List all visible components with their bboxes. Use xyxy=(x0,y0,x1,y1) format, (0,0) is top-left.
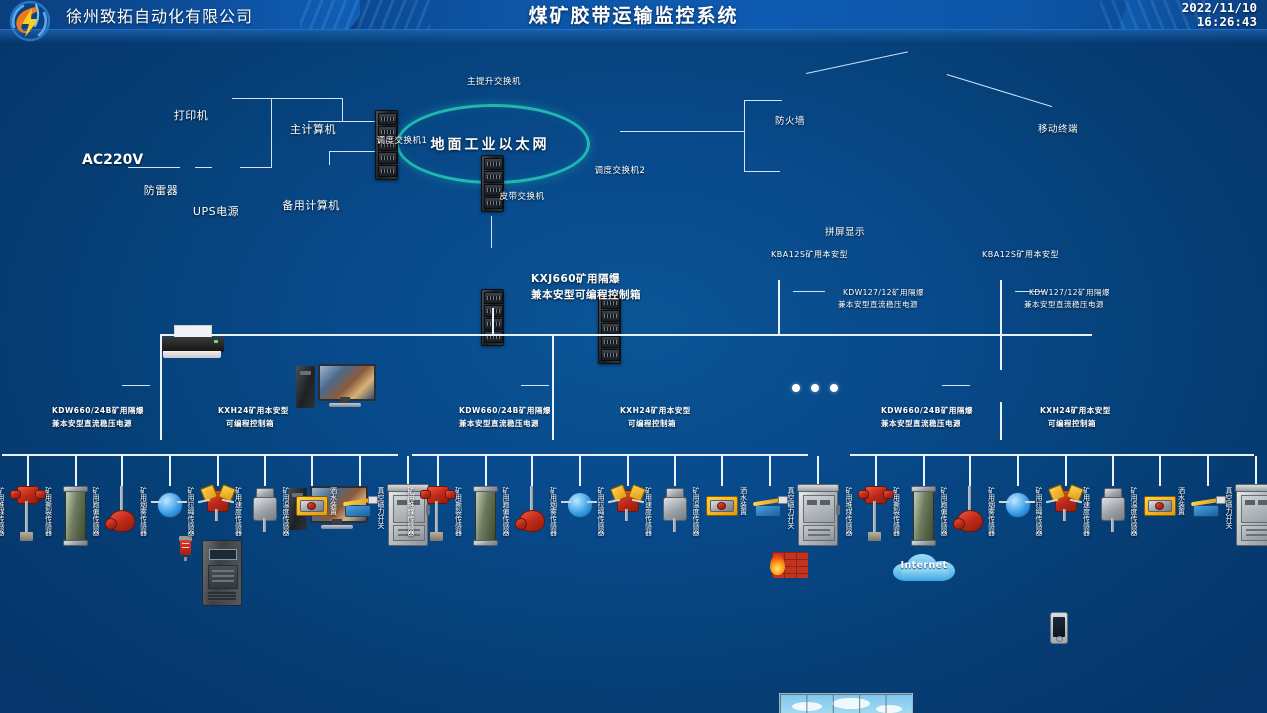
header-glow xyxy=(0,29,1267,43)
sensor-label: 真空磁力开关 xyxy=(377,487,385,529)
link-camera-1-to-power xyxy=(793,291,825,292)
sensor-temperature[interactable] xyxy=(293,486,329,516)
main-computer-device[interactable] xyxy=(296,364,372,410)
sensor-drop-line xyxy=(264,456,266,486)
sprinkler-nozzle xyxy=(778,496,788,504)
kdw660-power-2-line1: KDW660/24B矿用隔爆 xyxy=(459,405,551,416)
switch-dispatch-1-label: 调度交换机1 xyxy=(377,134,428,146)
coal-pile-lug-l xyxy=(10,490,21,499)
tear-plate xyxy=(475,488,496,544)
sensor-label: 矿用烟雾传感器 xyxy=(550,487,558,536)
sensor-label: 矿用堆煤传感器 xyxy=(845,487,853,536)
printer-label: 打印机 xyxy=(174,107,209,123)
deviation-shaft xyxy=(530,486,533,512)
link-power-3-to-controller-3 xyxy=(942,385,970,386)
mobile-terminal-icon[interactable] xyxy=(1050,612,1068,644)
vacuum-switch-cabinet xyxy=(1236,486,1267,546)
sensor-label: 矿用堆煤传感器 xyxy=(0,487,5,536)
vacuum-switch-lower xyxy=(1241,525,1267,541)
sensor-smoke[interactable] xyxy=(999,486,1035,518)
deviation-arm xyxy=(105,518,117,530)
tear-bottom-cap xyxy=(63,540,88,546)
sprinkler-nozzle xyxy=(1216,496,1226,504)
surge-pin xyxy=(184,557,187,561)
coal-pile-lug-l xyxy=(420,490,431,499)
tear-bottom-cap xyxy=(911,540,936,546)
sensor-coal-pile[interactable] xyxy=(8,486,46,542)
backup-computer-label: 备用计算机 xyxy=(282,197,340,213)
sensor-drop-line xyxy=(311,456,313,486)
sprinkler-unit xyxy=(751,493,787,515)
sensor-label: 矿用拉绳传感器 xyxy=(1035,487,1043,536)
sensor-vacuum-switch[interactable] xyxy=(798,486,836,544)
sensor-drop-line xyxy=(437,456,439,486)
sensor-drop-line xyxy=(121,456,123,486)
ups-device[interactable] xyxy=(202,540,242,606)
sensor-label: 矿用速度传感器 xyxy=(645,487,653,536)
sensor-speed[interactable] xyxy=(1094,486,1130,533)
vacuum-switch-top xyxy=(1235,484,1267,492)
coal-pile-paddle xyxy=(20,532,33,541)
sensor-drop-line xyxy=(1065,456,1067,486)
wall-bezel-grid xyxy=(780,694,912,713)
sensor-label: 矿用堆煤传感器 xyxy=(407,487,415,536)
kdw127-power-2-line2: 兼本安型直流稳压电源 xyxy=(1024,299,1104,310)
deviation-arm xyxy=(953,518,965,530)
sensor-label: 矿用烟雾传感器 xyxy=(140,487,148,536)
sensor-speed[interactable] xyxy=(656,486,692,533)
sensor-smoke[interactable] xyxy=(151,486,187,518)
sensor-label: 真空磁力开关 xyxy=(1225,487,1233,529)
sensor-label: 矿用跑偏传感器 xyxy=(92,487,100,536)
link-right-riser xyxy=(744,100,745,172)
link-to-firewall xyxy=(744,100,782,101)
smoke-bracket-l xyxy=(999,501,1009,503)
coal-pile-rod xyxy=(873,501,876,533)
app-header: 徐州致拓自动化有限公司 煤矿胶带运输监控系统 2022/11/10 16:26:… xyxy=(0,0,1267,30)
sensor-drop-line xyxy=(674,456,676,486)
sensor-drop-line xyxy=(817,456,819,486)
link-surge-to-ups xyxy=(195,167,212,168)
sensor-drop-line xyxy=(27,456,29,486)
sensor-sprinkler[interactable] xyxy=(341,486,377,516)
smoke-dome xyxy=(1005,492,1031,518)
sensor-drop-line xyxy=(1159,456,1161,486)
main-computer-tower xyxy=(296,366,315,408)
speed-shaft xyxy=(1111,518,1114,532)
link-internet-mobile xyxy=(947,74,1052,107)
smoke-bracket-r xyxy=(1025,501,1035,503)
pullcord-stem xyxy=(625,509,628,521)
video-wall-label: 拼屏显示 xyxy=(825,224,865,238)
sensor-sprinkler[interactable] xyxy=(751,486,787,516)
sensor-tear[interactable] xyxy=(466,486,504,544)
link-ups-up xyxy=(271,98,272,168)
sensor-drop-line xyxy=(169,456,171,486)
smoke-dome xyxy=(157,492,183,518)
tear-top-cap xyxy=(63,486,88,492)
printer-led xyxy=(214,340,218,343)
sensor-speed[interactable] xyxy=(246,486,282,533)
ring-label: 地面工业以太网 xyxy=(431,134,550,154)
kxh24-controller-2-line2: 可编程控制箱 xyxy=(628,418,676,429)
system-title: 煤矿胶带运输监控系统 xyxy=(0,1,1267,28)
tear-top-cap xyxy=(911,486,936,492)
printer-base xyxy=(163,351,221,358)
kba12s-camera-1-label: KBA12S矿用本安型 xyxy=(771,249,848,260)
sensor-drop-line xyxy=(1207,456,1209,486)
sensor-label: 矿用撕裂传感器 xyxy=(893,487,901,536)
sensor-sprinkler[interactable] xyxy=(1189,486,1225,516)
kxh24-controller-3-line1: KXH24矿用本安型 xyxy=(1040,405,1111,416)
sensor-label: 洒水装置 xyxy=(740,487,748,515)
kxh24-controller-1-line2: 可编程控制箱 xyxy=(226,418,274,429)
sensor-coal-pile[interactable] xyxy=(418,486,456,542)
surge-protector-label: 防雷器 xyxy=(144,182,179,198)
sprinkler-base xyxy=(1193,505,1219,517)
vacuum-switch-cabinet xyxy=(798,486,838,546)
link-power-2-to-controller-2 xyxy=(521,385,549,386)
sensor-drop-line xyxy=(485,456,487,486)
surge-body xyxy=(180,540,191,555)
printer-device[interactable] xyxy=(160,325,224,359)
link-kxj-to-main-bus xyxy=(492,308,494,335)
temp-indicator xyxy=(307,502,316,510)
link-beltswitch-to-kxj xyxy=(491,216,492,248)
sensor-smoke[interactable] xyxy=(561,486,597,518)
tear-bottom-cap xyxy=(473,540,498,546)
vacuum-switch-handle[interactable] xyxy=(836,505,840,515)
link-to-videowall xyxy=(744,171,780,172)
deviation-arm xyxy=(515,518,527,530)
sensor-vacuum-switch[interactable] xyxy=(1236,486,1267,544)
kxj660-label-line2: 兼本安型可编程控制箱 xyxy=(531,287,641,302)
sensor-label: 矿用撕裂传感器 xyxy=(455,487,463,536)
kdw660-power-1-line2: 兼本安型直流稳压电源 xyxy=(52,418,132,429)
switch-main-hoist[interactable] xyxy=(481,155,504,212)
sensor-tear[interactable] xyxy=(904,486,942,544)
video-wall-display[interactable] xyxy=(779,693,913,713)
coal-pile-paddle xyxy=(430,532,443,541)
ellipsis-more-groups xyxy=(792,384,838,392)
tear-top-cap xyxy=(473,486,498,492)
link-bus-to-camera-1 xyxy=(778,280,780,336)
sensor-drop-line xyxy=(359,456,361,486)
sprinkler-base xyxy=(755,505,781,517)
sprinkler-unit xyxy=(1189,493,1225,515)
sensor-tear[interactable] xyxy=(56,486,94,544)
sensor-drop-line xyxy=(579,456,581,486)
sensor-temperature[interactable] xyxy=(703,486,739,516)
kdw660-power-3-line1: KDW660/24B矿用隔爆 xyxy=(881,405,973,416)
sensor-label: 矿用撕裂传感器 xyxy=(45,487,53,536)
bus-drop-group-3-top xyxy=(1000,334,1002,370)
speed-shaft xyxy=(673,518,676,532)
pullcord-stem xyxy=(215,509,218,521)
ellipsis-dot-2 xyxy=(811,384,819,392)
main-computer-monitor xyxy=(318,364,376,401)
sensor-pull-cord[interactable] xyxy=(198,486,236,522)
ac-source-label: AC220V xyxy=(82,152,143,168)
smoke-bracket-r xyxy=(587,501,597,503)
internet-cloud-icon[interactable]: Internet xyxy=(891,552,957,582)
link-ups-right xyxy=(240,167,272,168)
coal-pile-rod xyxy=(25,501,28,533)
sensor-label: 洒水装置 xyxy=(1178,487,1186,515)
sensor-pull-cord[interactable] xyxy=(608,486,646,522)
ups-panel xyxy=(208,565,238,589)
mobile-terminal-label: 移动终端 xyxy=(1038,121,1078,135)
ellipsis-dot-3 xyxy=(830,384,838,392)
bus-drop-group-3-bottom xyxy=(1000,402,1002,440)
sensor-label: 矿用速度传感器 xyxy=(235,487,243,536)
pullcord-stem xyxy=(1063,509,1066,521)
sensor-pull-cord[interactable] xyxy=(1046,486,1084,522)
main-computer-foot xyxy=(329,403,361,407)
sensor-temperature[interactable] xyxy=(1141,486,1177,516)
sensor-label: 矿用温度传感器 xyxy=(282,487,290,536)
switch-dispatch-2-label: 调度交换机2 xyxy=(595,164,646,176)
internet-label: Internet xyxy=(891,560,957,571)
ups-screen xyxy=(209,549,237,560)
sensor-label: 矿用温度传感器 xyxy=(1130,487,1138,536)
switch-dispatch-2[interactable] xyxy=(598,294,621,364)
kdw660-power-2-line2: 兼本安型直流稳压电源 xyxy=(459,418,539,429)
sensor-drop-line xyxy=(407,456,409,486)
link-switch2-right xyxy=(620,131,745,132)
sensor-label: 矿用拉绳传感器 xyxy=(187,487,195,536)
sensor-drop-line xyxy=(969,456,971,486)
switch-main-hoist-label: 主提升交换机 xyxy=(467,75,521,87)
bus-drop-group-2-bottom xyxy=(552,402,554,440)
switch-belt-label: 皮带交换机 xyxy=(499,190,544,202)
link-firewall-internet xyxy=(806,51,908,74)
firewall-flame-icon xyxy=(770,554,785,575)
tear-plate xyxy=(65,488,86,544)
kdw660-power-1-line1: KDW660/24B矿用隔爆 xyxy=(52,405,144,416)
kdw127-power-1-line1: KDW127/12矿用隔爆 xyxy=(843,287,924,298)
vacuum-switch-lower xyxy=(803,525,835,541)
sprinkler-nozzle xyxy=(368,496,378,504)
smoke-dome xyxy=(567,492,593,518)
kdw127-power-1-line2: 兼本安型直流稳压电源 xyxy=(838,299,918,310)
sensor-drop-line xyxy=(627,456,629,486)
link-power-1-to-controller-1 xyxy=(122,385,150,386)
clock-date: 2022/11/10 xyxy=(1182,1,1257,15)
sensor-drop-line xyxy=(1112,456,1114,486)
coal-pile-lug-l xyxy=(858,490,869,499)
sensor-bus-2 xyxy=(412,454,808,456)
smoke-bracket-l xyxy=(561,501,571,503)
main-computer-label: 主计算机 xyxy=(290,121,336,137)
kxj660-label-line1: KXJ660矿用隔爆 xyxy=(531,271,620,286)
sensor-coal-pile[interactable] xyxy=(856,486,894,542)
sensor-drop-line xyxy=(217,456,219,486)
speed-shaft xyxy=(263,518,266,532)
ups-label: UPS电源 xyxy=(193,203,239,219)
kba12s-camera-2-label: KBA12S矿用本安型 xyxy=(982,249,1059,260)
sensor-deviation[interactable] xyxy=(513,486,549,532)
surge-protector-device[interactable] xyxy=(179,536,192,558)
backup-computer-foot xyxy=(321,525,353,529)
vacuum-switch-panel xyxy=(1241,495,1267,523)
temp-indicator xyxy=(717,502,726,510)
kdw660-power-3-line2: 兼本安型直流稳压电源 xyxy=(881,418,961,429)
sensor-drop-line xyxy=(923,456,925,486)
sensor-drop-line xyxy=(1255,456,1257,486)
deviation-shaft xyxy=(120,486,123,512)
sprinkler-unit xyxy=(341,493,377,515)
deviation-shaft xyxy=(968,486,971,512)
sensor-drop-line xyxy=(721,456,723,486)
sprinkler-base xyxy=(345,505,371,517)
tear-plate xyxy=(913,488,934,544)
link-backup-vert xyxy=(329,151,330,165)
sensor-label: 矿用跑偏传感器 xyxy=(502,487,510,536)
sensor-label: 真空磁力开关 xyxy=(787,487,795,529)
ups-vent xyxy=(208,592,236,601)
vacuum-switch-top xyxy=(797,484,839,492)
link-bus-to-camera-2 xyxy=(1000,280,1002,336)
temp-indicator xyxy=(1155,502,1164,510)
smoke-bracket-l xyxy=(151,501,161,503)
link-pc-vert xyxy=(342,98,343,122)
sensor-deviation[interactable] xyxy=(951,486,987,532)
bus-drop-group-1-bottom xyxy=(160,402,162,440)
sensor-bus-3 xyxy=(850,454,1254,456)
monitoring-diagram-screen: 徐州致拓自动化有限公司 煤矿胶带运输监控系统 2022/11/10 16:26:… xyxy=(0,0,1267,713)
kxh24-controller-1-line1: KXH24矿用本安型 xyxy=(218,405,289,416)
smoke-bracket-r xyxy=(177,501,187,503)
sensor-drop-line xyxy=(875,456,877,486)
sensor-label: 矿用烟雾传感器 xyxy=(988,487,996,536)
sensor-label: 矿用速度传感器 xyxy=(1083,487,1091,536)
coal-pile-rod xyxy=(435,501,438,533)
sensor-drop-line xyxy=(1017,456,1019,486)
firewall-icon[interactable] xyxy=(772,552,808,578)
kxh24-controller-3-line2: 可编程控制箱 xyxy=(1048,418,1096,429)
sensor-drop-line xyxy=(75,456,77,486)
clock: 2022/11/10 16:26:43 xyxy=(1182,1,1257,29)
link-printer-to-pc xyxy=(232,98,342,99)
sensor-bus-1 xyxy=(2,454,398,456)
sensor-label: 矿用温度传感器 xyxy=(692,487,700,536)
vacuum-switch-panel xyxy=(803,495,835,523)
sensor-label: 矿用拉绳传感器 xyxy=(597,487,605,536)
main-distribution-bus xyxy=(160,334,1092,336)
coal-pile-paddle xyxy=(868,532,881,541)
firewall-label: 防火墙 xyxy=(775,113,805,127)
sensor-drop-line xyxy=(531,456,533,486)
clock-time: 16:26:43 xyxy=(1182,15,1257,29)
sensor-deviation[interactable] xyxy=(103,486,139,532)
sensor-drop-line xyxy=(769,456,771,486)
kdw127-power-2-line1: KDW127/12矿用隔爆 xyxy=(1029,287,1110,298)
kxh24-controller-2-line1: KXH24矿用本安型 xyxy=(620,405,691,416)
ellipsis-dot-1 xyxy=(792,384,800,392)
sensor-label: 矿用跑偏传感器 xyxy=(940,487,948,536)
sensor-label: 洒水装置 xyxy=(330,487,338,515)
